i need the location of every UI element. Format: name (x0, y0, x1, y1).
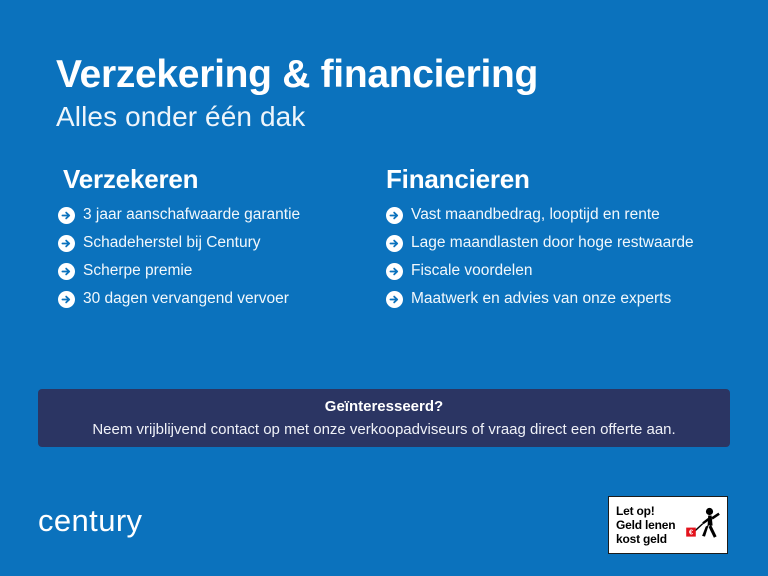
cta-text: Neem vrijblijvend contact op met onze ve… (48, 420, 720, 440)
arrow-right-circle-icon (386, 263, 403, 280)
credit-warning-badge: Let op! Geld lenen kost geld (608, 496, 728, 554)
column-verzekeren: Verzekeren 3 jaar aanschafwaarde garanti… (0, 163, 362, 309)
warning-line-1: Let op! (616, 504, 684, 518)
cta-panel: Geïnteresseerd? Neem vrijblijvend contac… (38, 389, 730, 447)
list-item-label: 3 jaar aanschafwaarde garantie (83, 205, 300, 225)
list-item: 30 dagen vervangend vervoer (58, 289, 362, 309)
list-item-label: Scherpe premie (83, 261, 192, 281)
bullet-list-verzekeren: 3 jaar aanschafwaarde garantie Schadeher… (58, 205, 362, 309)
svg-text:€: € (689, 528, 693, 537)
arrow-right-circle-icon (58, 263, 75, 280)
list-item: 3 jaar aanschafwaarde garantie (58, 205, 362, 225)
arrow-right-circle-icon (386, 235, 403, 252)
list-item-label: Lage maandlasten door hoge restwaarde (411, 233, 694, 253)
warning-text-block: Let op! Geld lenen kost geld (609, 504, 684, 546)
list-item-label: Fiscale voordelen (411, 261, 532, 281)
arrow-right-circle-icon (58, 235, 75, 252)
column-title-financieren: Financieren (386, 163, 768, 195)
column-financieren: Financieren Vast maandbedrag, looptijd e… (362, 163, 768, 309)
list-item: Vast maandbedrag, looptijd en rente (386, 205, 768, 225)
list-item-label: Schadeherstel bij Century (83, 233, 261, 253)
list-item: Scherpe premie (58, 261, 362, 281)
list-item-label: Vast maandbedrag, looptijd en rente (411, 205, 660, 225)
person-pulling-block-icon: € (684, 503, 724, 547)
warning-line-3: kost geld (616, 532, 684, 546)
feature-columns: Verzekeren 3 jaar aanschafwaarde garanti… (0, 163, 768, 309)
column-title-verzekeren: Verzekeren (63, 163, 362, 195)
page-subtitle: Alles onder één dak (56, 101, 716, 133)
arrow-right-circle-icon (58, 291, 75, 308)
arrow-right-circle-icon (386, 207, 403, 224)
century-logo: century (38, 503, 142, 539)
list-item-label: 30 dagen vervangend vervoer (83, 289, 289, 309)
list-item: Schadeherstel bij Century (58, 233, 362, 253)
header: Verzekering & financiering Alles onder é… (56, 52, 716, 133)
list-item: Fiscale voordelen (386, 261, 768, 281)
warning-line-2: Geld lenen (616, 518, 684, 532)
arrow-right-circle-icon (58, 207, 75, 224)
cta-title: Geïnteresseerd? (48, 397, 720, 417)
page-title: Verzekering & financiering (56, 52, 716, 98)
list-item-label: Maatwerk en advies van onze experts (411, 289, 671, 309)
slide-root: Verzekering & financiering Alles onder é… (0, 0, 768, 576)
arrow-right-circle-icon (386, 291, 403, 308)
list-item: Maatwerk en advies van onze experts (386, 289, 768, 309)
list-item: Lage maandlasten door hoge restwaarde (386, 233, 768, 253)
bullet-list-financieren: Vast maandbedrag, looptijd en rente Lage… (386, 205, 768, 309)
